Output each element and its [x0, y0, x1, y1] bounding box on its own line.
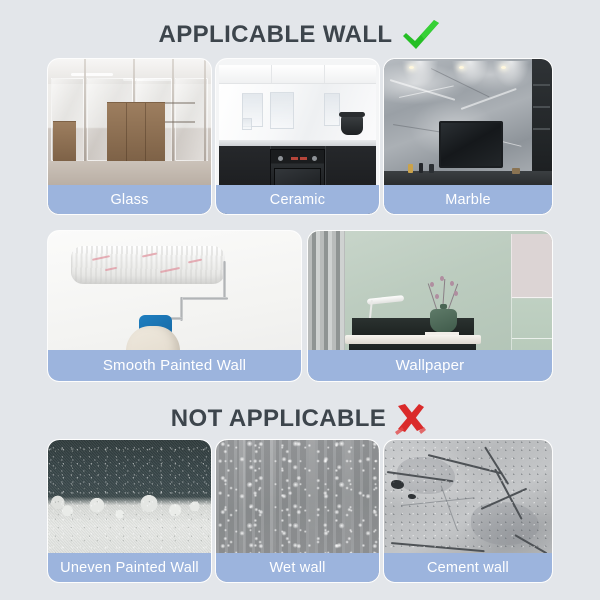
card-wet-wall[interactable]: Wet wall [216, 440, 379, 582]
card-label-wet-wall: Wet wall [216, 553, 379, 582]
card-wallpaper[interactable]: Wallpaper [308, 231, 552, 381]
card-label-cement-wall: Cement wall [384, 553, 552, 582]
card-uneven-painted-wall[interactable]: Uneven Painted Wall [48, 440, 211, 582]
card-ceramic[interactable]: Ceramic [216, 59, 379, 214]
green-check-icon [400, 18, 442, 52]
card-label-ceramic: Ceramic [216, 185, 379, 214]
card-glass[interactable]: Glass [48, 59, 211, 214]
card-smooth-painted-wall[interactable]: Smooth Painted Wall [48, 231, 301, 381]
not-applicable-title-text: NOT APPLICABLE [171, 407, 386, 431]
not-applicable-section-title: NOT APPLICABLE [0, 402, 600, 436]
applicable-section-title: APPLICABLE WALL [0, 18, 600, 52]
card-label-glass: Glass [48, 185, 211, 214]
card-label-marble: Marble [384, 185, 552, 214]
applicable-title-text: APPLICABLE WALL [159, 23, 393, 47]
card-marble[interactable]: Marble [384, 59, 552, 214]
card-label-uneven-painted-wall: Uneven Painted Wall [48, 553, 211, 582]
card-label-smooth-painted-wall: Smooth Painted Wall [48, 350, 301, 381]
card-cement-wall[interactable]: Cement wall [384, 440, 552, 582]
card-label-wallpaper: Wallpaper [308, 350, 552, 381]
red-cross-icon [393, 402, 429, 436]
